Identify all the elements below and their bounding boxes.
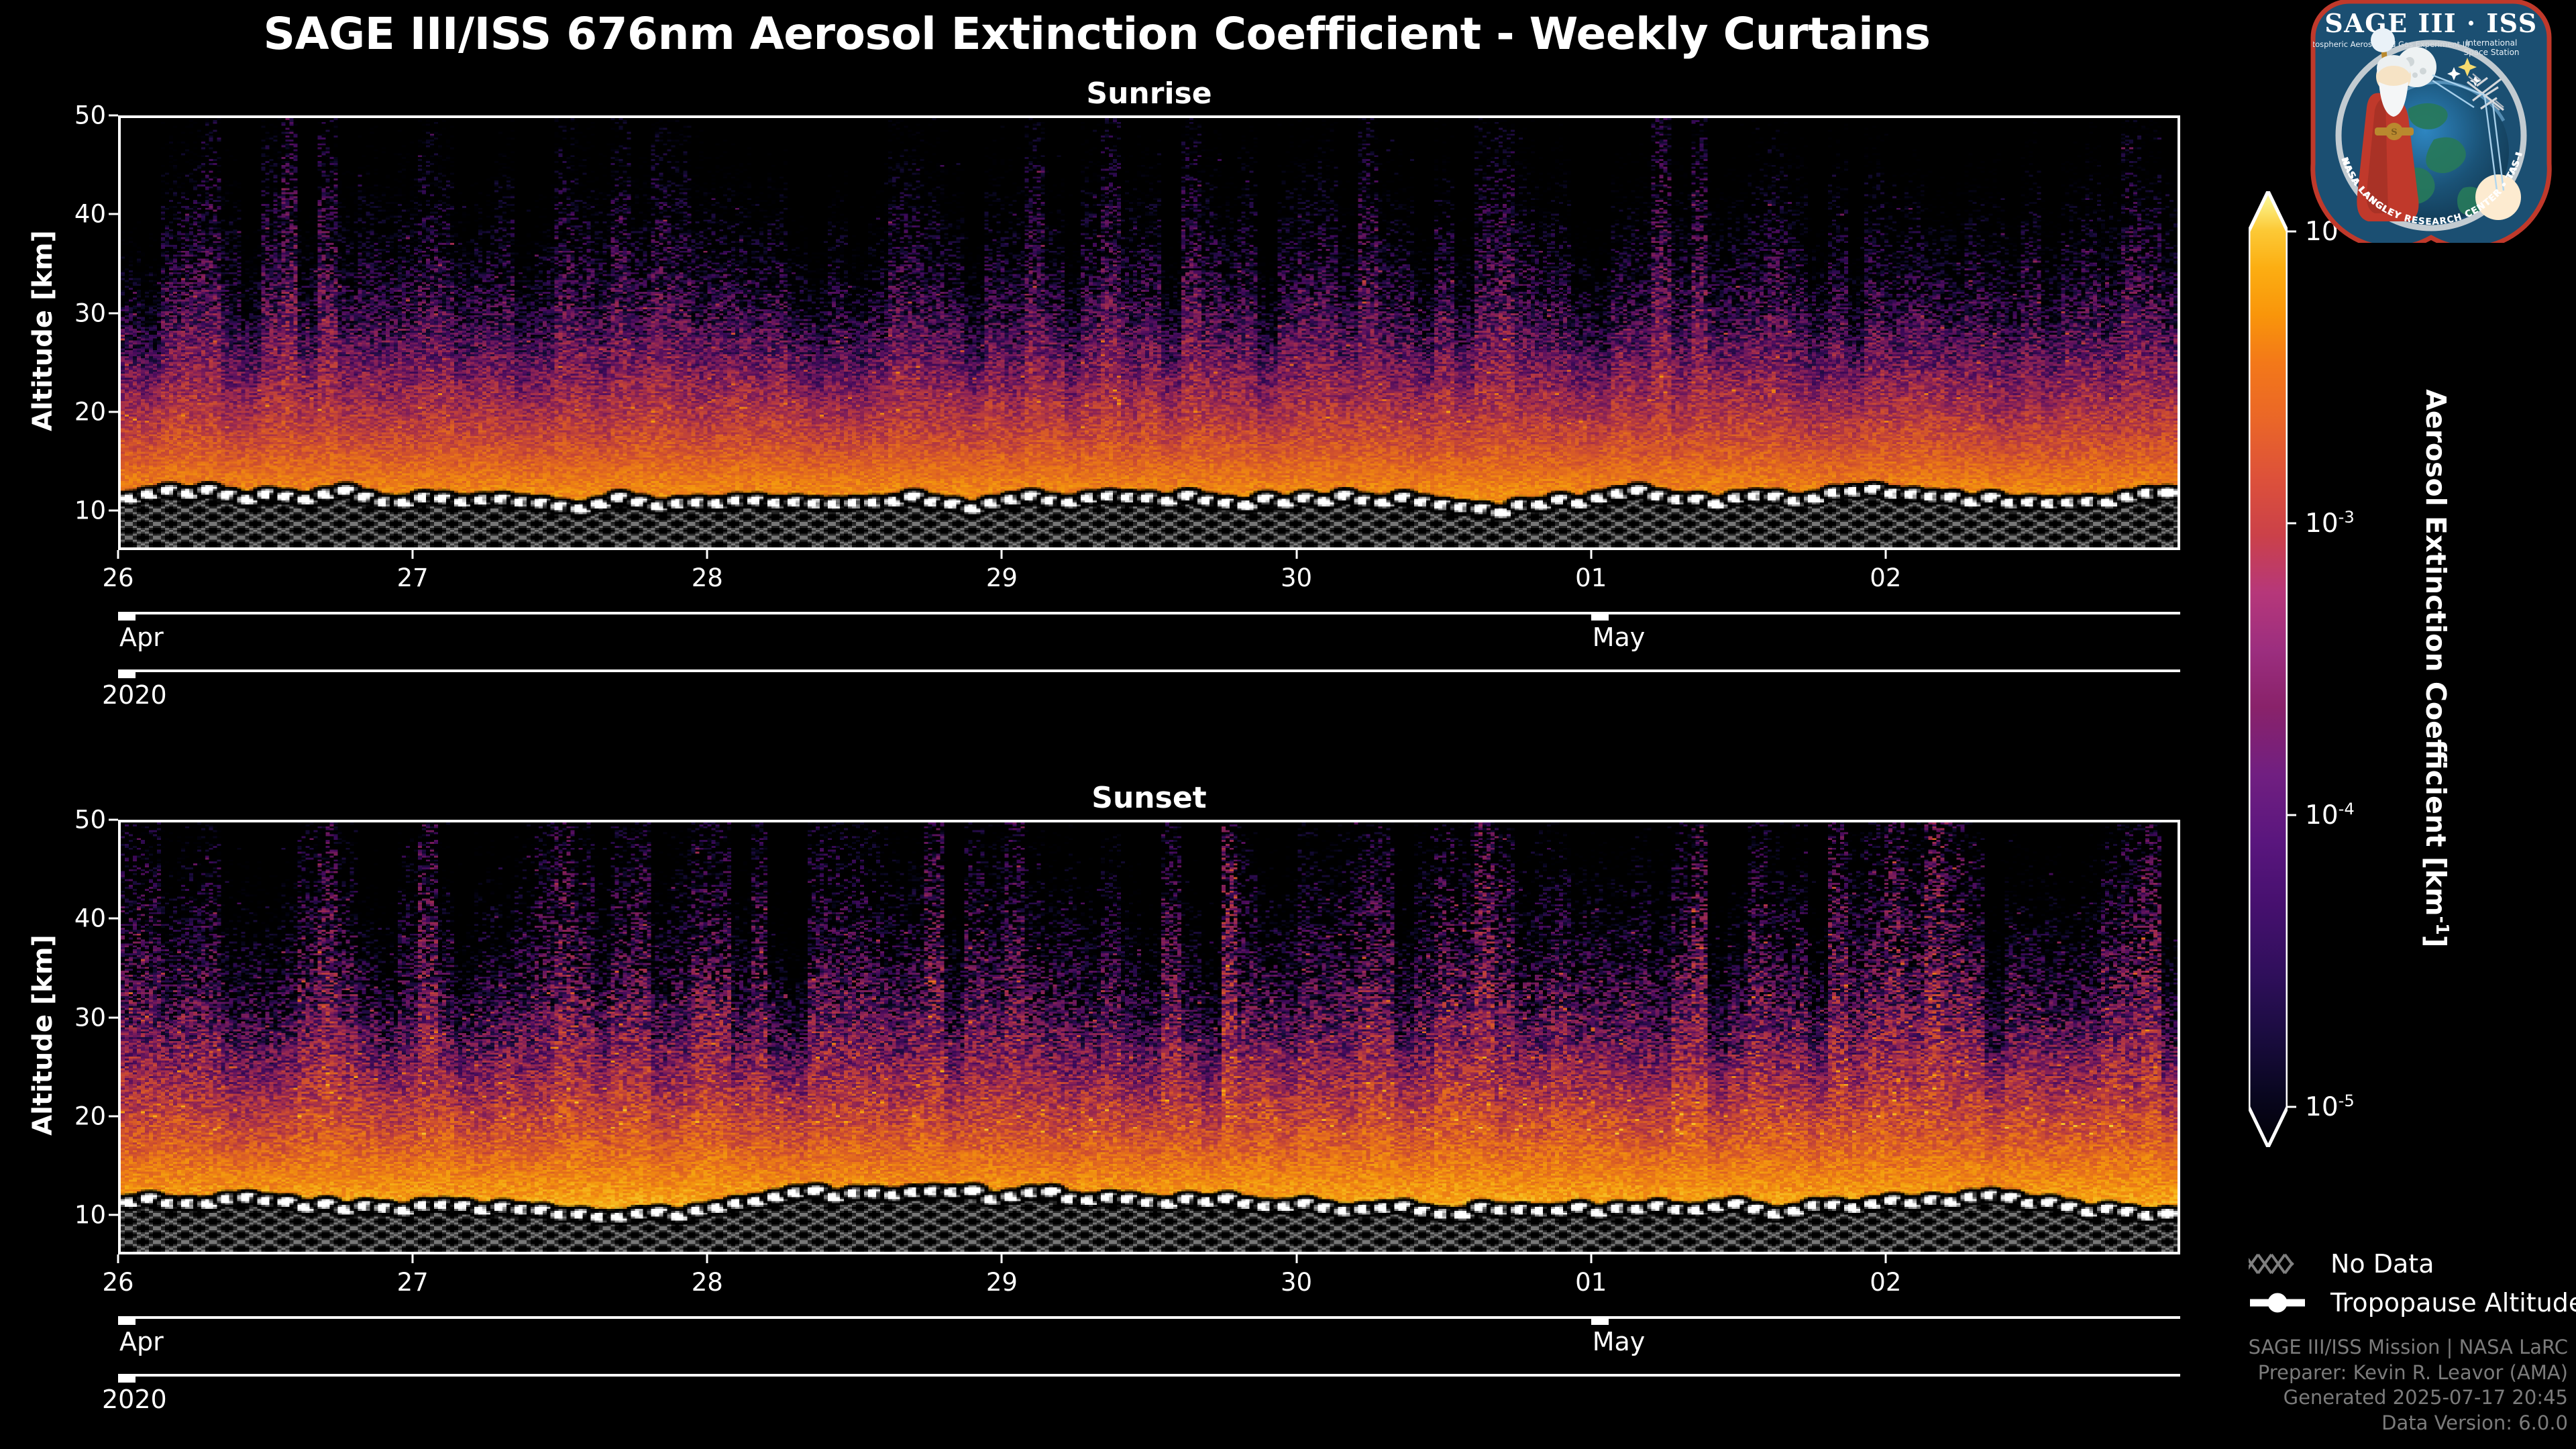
month-tier-line — [118, 612, 2180, 614]
x-tick-mark — [1295, 550, 1297, 559]
plot-area-sunset[interactable] — [118, 820, 2180, 1254]
y-tick-label: 20 — [74, 397, 106, 426]
y-tick-mark — [109, 411, 118, 413]
colorbar[interactable]: 10-210-310-410-5 Aerosol Extinction Coef… — [2249, 191, 2288, 1147]
y-tick-label: 40 — [74, 904, 106, 933]
month-label: Apr — [119, 623, 164, 652]
x-tick-label: 26 — [102, 1268, 133, 1297]
colorbar-tick-mantissa: 10 — [2305, 508, 2339, 539]
footer-line-generated: Generated 2025-07-17 20:45 — [2249, 1385, 2568, 1411]
x-tick-mark — [706, 1254, 708, 1263]
y-tick-mark — [109, 1115, 118, 1117]
y-tick-mark — [109, 312, 118, 314]
sage-iii-iss-mission-patch-logo: SAGE III · ISS Stratospheric Aerosol and… — [2308, 0, 2555, 243]
legend-label-tropopause: Tropopause Altitude — [2330, 1288, 2576, 1318]
colorbar-tick-label: 10-3 — [2305, 508, 2355, 539]
colorbar-tick-label: 10-4 — [2305, 800, 2355, 830]
colorbar-tick-mantissa: 10 — [2305, 1092, 2339, 1122]
month-tier-tick — [1591, 1316, 1609, 1325]
x-tick-label: 27 — [397, 563, 429, 592]
panel-title-sunset: Sunset — [118, 781, 2180, 815]
year-tier-tick — [118, 1374, 136, 1383]
x-tick-mark — [1884, 1254, 1886, 1263]
month-tier-tick — [1591, 612, 1609, 621]
panel-sunrise: Sunrise Altitude [km] 1020304050 2627282… — [118, 115, 2180, 550]
panel-sunset: Sunset Altitude [km] 1020304050 26272829… — [118, 820, 2180, 1254]
year-tier-line — [118, 669, 2180, 672]
y-tick-label: 50 — [74, 101, 106, 130]
x-tick-mark — [1001, 550, 1003, 559]
colorbar-tick-mark — [2288, 231, 2296, 233]
year-tier-line — [118, 1374, 2180, 1377]
footer-credits: SAGE III/ISS Mission | NASA LaRC Prepare… — [2249, 1335, 2568, 1436]
x-tick-mark — [1884, 550, 1886, 559]
footer-line-preparer: Preparer: Kevin R. Leavor (AMA) — [2249, 1360, 2568, 1386]
y-tick-label: 20 — [74, 1102, 106, 1130]
x-tick-mark — [117, 1254, 119, 1263]
y-tick-label: 10 — [74, 1201, 106, 1230]
svg-text:International: International — [2466, 38, 2518, 48]
tropopause-marker-icon — [2249, 1289, 2306, 1316]
colorbar-tick-exponent: -4 — [2339, 800, 2355, 818]
footer-line-version: Data Version: 6.0.0 — [2249, 1411, 2568, 1436]
y-tick-mark — [109, 510, 118, 512]
page-title: SAGE III/ISS 676nm Aerosol Extinction Co… — [0, 8, 2194, 60]
y-tick-mark — [109, 1214, 118, 1216]
panel-title-sunrise: Sunrise — [118, 76, 2180, 111]
x-tick-label: 26 — [102, 563, 133, 592]
no-data-hatch-icon — [2249, 1250, 2306, 1277]
y-tick-mark — [109, 115, 118, 117]
month-label: May — [1593, 623, 1646, 652]
colorbar-tick-mark — [2288, 523, 2296, 525]
footer-line-mission: SAGE III/ISS Mission | NASA LaRC — [2249, 1335, 2568, 1360]
colorbar-tick-exponent: -5 — [2339, 1091, 2355, 1110]
x-tick-mark — [1590, 550, 1592, 559]
x-tick-label: 01 — [1575, 563, 1607, 592]
y-tick-label: 50 — [74, 806, 106, 835]
year-label: 2020 — [102, 680, 167, 710]
svg-text:SAGE III · ISS: SAGE III · ISS — [2324, 8, 2537, 38]
x-tick-label: 02 — [1870, 563, 1901, 592]
month-label: Apr — [119, 1327, 164, 1356]
x-tick-label: 27 — [397, 1268, 429, 1297]
heatmap-sunrise — [121, 118, 2178, 547]
y-tick-mark — [109, 819, 118, 821]
x-tick-mark — [412, 1254, 414, 1263]
x-tick-mark — [412, 550, 414, 559]
month-tier-line — [118, 1316, 2180, 1319]
year-tier-tick — [118, 669, 136, 678]
x-tick-label: 29 — [986, 563, 1018, 592]
y-tick-mark — [109, 1016, 118, 1018]
x-tick-mark — [1590, 1254, 1592, 1263]
heatmap-sunset — [121, 822, 2178, 1252]
year-label: 2020 — [102, 1385, 167, 1414]
legend-item-tropopause: Tropopause Altitude — [2249, 1283, 2564, 1322]
x-tick-label: 30 — [1281, 563, 1312, 592]
plot-area-sunrise[interactable] — [118, 115, 2180, 550]
colorbar-tick-mark — [2288, 1106, 2296, 1108]
colorbar-tick-exponent: -3 — [2339, 508, 2355, 527]
colorbar-tick-mark — [2288, 814, 2296, 816]
legend: No Data Tropopause Altitude — [2249, 1244, 2564, 1322]
month-tier-tick — [118, 612, 136, 621]
y-axis-label-sunset: Altitude [km] — [28, 818, 58, 1252]
y-tick-mark — [109, 918, 118, 920]
y-axis-label-sunrise: Altitude [km] — [28, 113, 58, 548]
x-tick-mark — [1295, 1254, 1297, 1263]
x-tick-mark — [117, 550, 119, 559]
figure-canvas: SAGE III/ISS 676nm Aerosol Extinction Co… — [0, 0, 2576, 1449]
x-tick-label: 02 — [1870, 1268, 1901, 1297]
colorbar-title: Aerosol Extinction Coefficient [km-1] — [2420, 190, 2453, 1146]
svg-text:S: S — [2391, 127, 2397, 138]
y-tick-label: 40 — [74, 200, 106, 229]
legend-label-no-data: No Data — [2330, 1249, 2434, 1279]
colorbar-tick-label: 10-5 — [2305, 1091, 2355, 1122]
y-tick-label: 30 — [74, 1003, 106, 1032]
x-tick-mark — [1001, 1254, 1003, 1263]
x-tick-label: 29 — [986, 1268, 1018, 1297]
month-label: May — [1593, 1327, 1646, 1356]
x-tick-label: 30 — [1281, 1268, 1312, 1297]
colorbar-tick-mantissa: 10 — [2305, 800, 2339, 830]
x-tick-label: 28 — [692, 1268, 723, 1297]
y-tick-label: 30 — [74, 299, 106, 327]
x-tick-label: 01 — [1575, 1268, 1607, 1297]
colorbar-gradient — [2249, 191, 2288, 1150]
legend-item-no-data: No Data — [2249, 1244, 2564, 1283]
x-tick-mark — [706, 550, 708, 559]
month-tier-tick — [118, 1316, 136, 1325]
y-tick-mark — [109, 213, 118, 215]
x-tick-label: 28 — [692, 563, 723, 592]
y-tick-label: 10 — [74, 496, 106, 525]
